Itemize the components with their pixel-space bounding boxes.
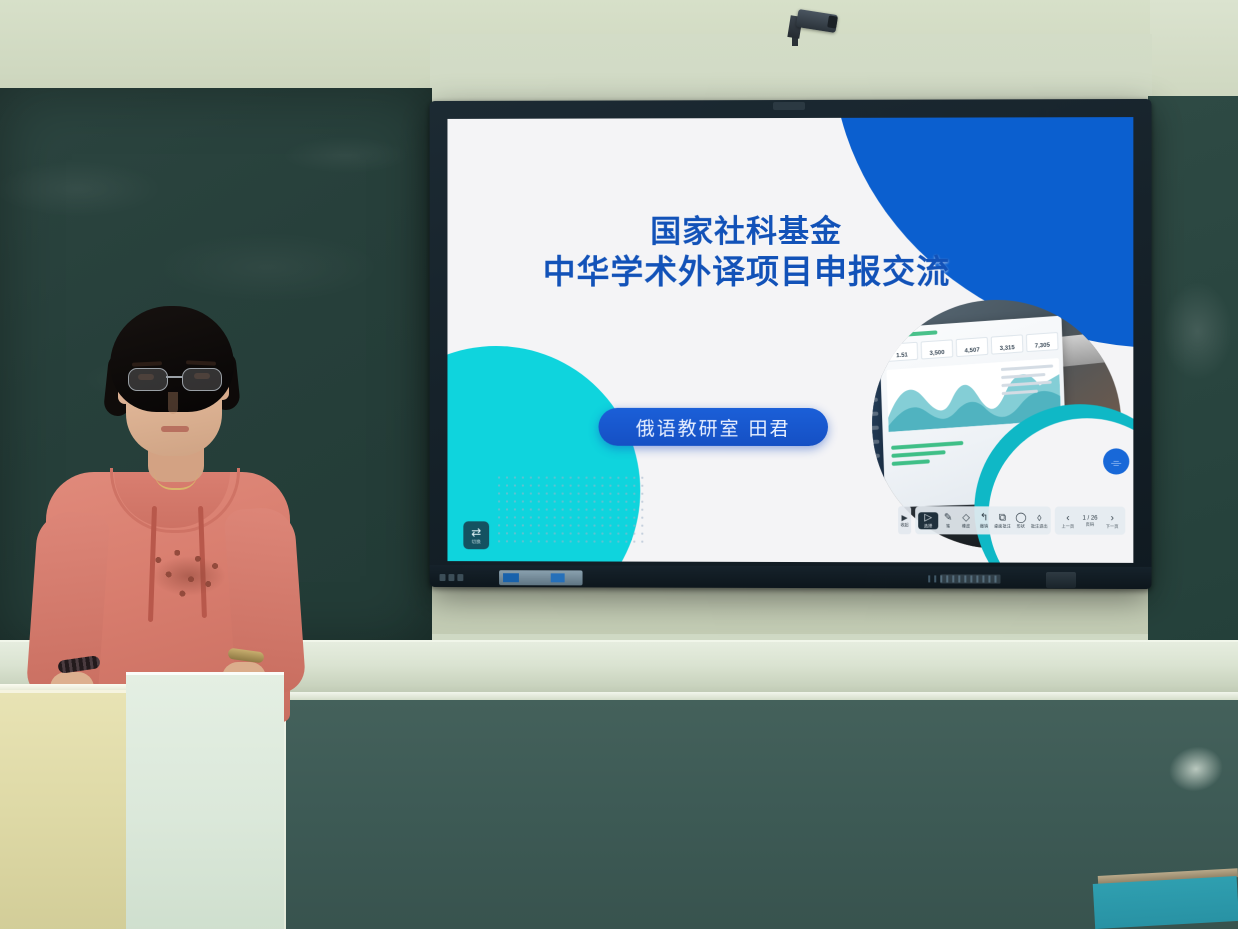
eraser-icon: ◇ [962,513,970,523]
glasses-icon [126,368,224,390]
control-indicator-secondary [551,573,565,582]
pen-icon: ✎ [944,513,952,523]
tool-select-label: 选择 [924,524,932,528]
tool-desktop-annotate-label: 桌面批注 [994,524,1011,528]
podium-left-panel [0,690,128,929]
ceiling-camera-icon [783,4,839,50]
tool-shape-label: 形状 [1017,524,1025,528]
glasses-lens-left [128,368,168,391]
desktop-annotate-icon: ⧉ [999,513,1006,523]
page-number: 1 / 26 [1082,515,1097,521]
smart-whiteboard-display[interactable]: 1.51 3,500 4,507 3,315 7,305 [430,99,1152,589]
photo-stat-row: 1.51 3,500 4,507 3,315 7,305 [886,332,1059,362]
slide-badge-icon: ⌯ [1103,448,1129,474]
photo-stat: 3,315 [991,334,1024,354]
display-sensor [773,102,805,110]
slide-title: 国家社科基金 中华学术外译项目申报交流 [447,214,1046,293]
tool-shape[interactable]: ◯ 形状 [1013,513,1029,528]
tool-pen-label: 笔 [946,524,950,528]
undo-icon: ↰ [980,513,988,523]
swap-button-label: 切换 [471,539,481,545]
presenter [22,300,312,720]
podium-right-panel [126,672,284,929]
annotation-toolbar[interactable]: ▶ 收起 ▷ 选择 ✎ 笔 ◇ 橡皮 [898,506,1125,535]
glasses-bridge [166,376,182,378]
next-page-button[interactable]: › 下一页 [1104,513,1120,528]
cursor-icon: ▷ [924,513,932,523]
slide-halftone-dots [495,474,644,548]
display-status-leds [440,571,492,584]
photo-stat: 3,500 [921,339,954,359]
classroom-presentation-scene: 1.51 3,500 4,507 3,315 7,305 [0,0,1238,929]
tool-eraser[interactable]: ◇ 橡皮 [958,513,974,528]
tool-undo-label: 撤销 [980,524,988,528]
toolbar-tool-group[interactable]: ▷ 选择 ✎ 笔 ◇ 橡皮 ↰ 撤销 [915,506,1051,534]
slide-title-line1: 国家社科基金 [447,214,1046,253]
presenter-mouth [161,426,189,432]
display-control-strip[interactable] [499,570,582,585]
floor [1093,876,1238,929]
tool-eraser-label: 橡皮 [962,524,970,528]
toolbar-page-nav[interactable]: ‹ 上一页 1 / 26 页码 › 下一页 [1055,507,1125,535]
tool-pen[interactable]: ✎ 笔 [940,513,956,528]
display-wall-mount [1046,572,1076,588]
display-bottom-bezel [430,565,1152,589]
collapse-icon: ▶ [902,513,908,522]
glasses-lens-right [182,368,222,391]
photo-stat: 7,305 [1026,332,1059,352]
photo-bar-list [891,440,978,470]
display-screen[interactable]: 1.51 3,500 4,507 3,315 7,305 [447,117,1133,563]
tool-exit-annotate-label: 批注退出 [1031,524,1048,528]
slide-subtitle-pill: 俄语教研室 田君 [598,408,828,446]
prev-page-label: 上一页 [1062,524,1075,528]
page-indicator-label: 页码 [1086,522,1094,526]
slide-title-line2: 中华学术外译项目申报交流 [447,252,1046,293]
swap-icon: ⇄ [471,526,481,538]
swap-input-button[interactable]: ⇄ 切换 [463,521,489,549]
photo-stat: 4,507 [956,337,989,357]
presenter-nose [168,392,178,414]
tool-select[interactable]: ▷ 选择 [918,512,938,529]
toolbar-collapse-handle[interactable]: ▶ 收起 [898,506,911,534]
next-page-label: 下一页 [1106,524,1119,528]
tool-undo[interactable]: ↰ 撤销 [976,513,992,528]
tool-desktop-annotate[interactable]: ⧉ 桌面批注 [994,513,1011,528]
chalkboard-right [1148,96,1238,656]
shape-icon: ◯ [1015,513,1026,523]
tool-exit-annotate[interactable]: ⬨ 批注退出 [1031,513,1048,528]
page-indicator: 1 / 26 页码 [1082,515,1098,526]
camera-lens [827,15,838,28]
chevron-left-icon: ‹ [1066,513,1069,523]
prev-page-button[interactable]: ‹ 上一页 [1060,513,1076,528]
photo-text-lines [1001,364,1058,400]
photo-stat: 1.51 [886,342,919,362]
photo-topbar [887,330,937,338]
chevron-right-icon: › [1111,513,1114,523]
presenter-shirt-graphic [148,542,234,602]
display-brand-label [940,574,1000,583]
collapse-label: 收起 [901,522,909,528]
exit-annotate-icon: ⬨ [1037,513,1042,523]
control-indicator-primary [503,573,519,582]
